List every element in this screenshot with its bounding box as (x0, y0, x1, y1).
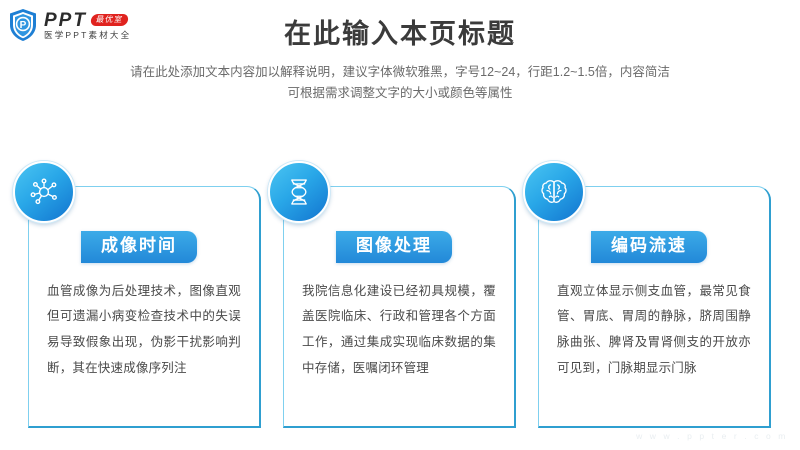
content-card-2[interactable]: 图像处理 我院信息化建设已经初具规模，覆盖医院临床、行政和管理各个方面工作，通过… (283, 186, 516, 428)
card-content: 成像时间 血管成像为后处理技术，图像直观但可遗漏小病变检查技术中的失误易导致假象… (29, 187, 259, 381)
molecule-icon (13, 161, 75, 223)
subtitle-line-1: 请在此处添加文本内容加以解释说明，建议字体微软雅黑，字号12~24，行距1.2~… (0, 62, 800, 83)
card-title: 编码流速 (591, 231, 707, 263)
dna-icon (268, 161, 330, 223)
card-body-text: 血管成像为后处理技术，图像直观但可遗漏小病变检查技术中的失误易导致假象出现，伪影… (47, 279, 241, 382)
content-card-1[interactable]: 成像时间 血管成像为后处理技术，图像直观但可遗漏小病变检查技术中的失误易导致假象… (28, 186, 261, 428)
page-subtitle: 请在此处添加文本内容加以解释说明，建议字体微软雅黑，字号12~24，行距1.2~… (0, 62, 800, 103)
card-content: 编码流速 直观立体显示侧支血管，最常见食管、胃底、胃周的静脉，脐周围静脉曲张、脾… (539, 187, 769, 381)
card-title: 图像处理 (336, 231, 452, 263)
card-body-text: 我院信息化建设已经初具规模，覆盖医院临床、行政和管理各个方面工作，通过集成实现临… (302, 279, 496, 382)
card-title: 成像时间 (81, 231, 197, 263)
footer-watermark: w w w . p p t e r . c o m (636, 431, 788, 441)
subtitle-line-2: 可根据需求调整文字的大小或颜色等属性 (0, 83, 800, 104)
card-body-text: 直观立体显示侧支血管，最常见食管、胃底、胃周的静脉，脐周围静脉曲张、脾肾及胃肾侧… (557, 279, 751, 382)
card-row: 成像时间 血管成像为后处理技术，图像直观但可遗漏小病变检查技术中的失误易导致假象… (28, 168, 772, 428)
content-card-3[interactable]: 编码流速 直观立体显示侧支血管，最常见食管、胃底、胃周的静脉，脐周围静脉曲张、脾… (538, 186, 771, 428)
brain-icon (523, 161, 585, 223)
page-title: 在此输入本页标题 (0, 18, 800, 50)
card-content: 图像处理 我院信息化建设已经初具规模，覆盖医院临床、行政和管理各个方面工作，通过… (284, 187, 514, 381)
